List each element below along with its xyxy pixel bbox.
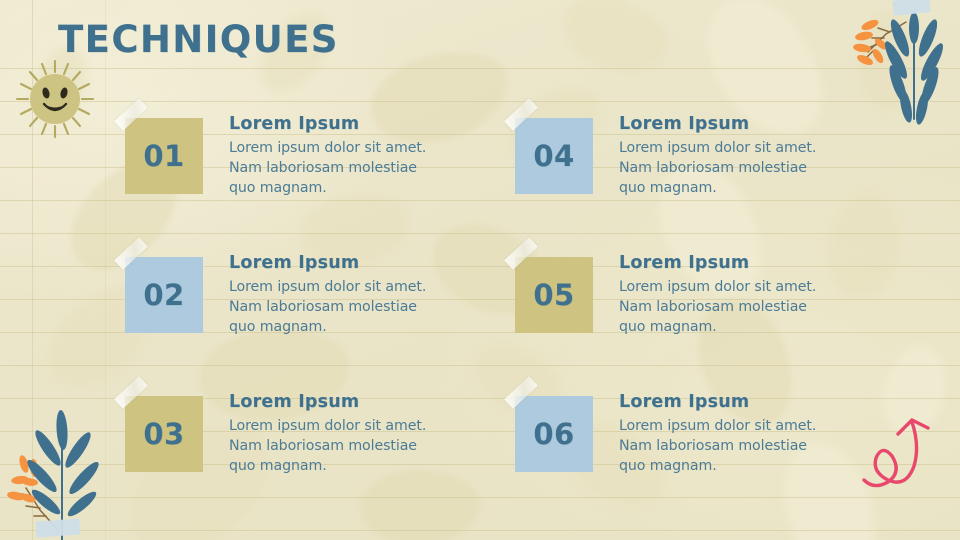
slide-canvas: TECHNIQUES xyxy=(0,0,960,540)
tile-number: 06 xyxy=(533,420,574,449)
technique-heading: Lorem Ipsum xyxy=(229,392,437,413)
number-tile[interactable]: 04 xyxy=(515,112,593,194)
technique-description: Lorem ipsum dolor sit amet. Nam laborios… xyxy=(229,277,437,337)
technique-description: Lorem ipsum dolor sit amet. Nam laborios… xyxy=(229,138,437,198)
number-tile[interactable]: 06 xyxy=(515,390,593,472)
number-tile[interactable]: 05 xyxy=(515,251,593,333)
technique-text-block: Lorem IpsumLorem ipsum dolor sit amet. N… xyxy=(619,251,827,337)
technique-text-block: Lorem IpsumLorem ipsum dolor sit amet. N… xyxy=(619,112,827,198)
technique-heading: Lorem Ipsum xyxy=(229,114,437,135)
technique-card-grid: 01Lorem IpsumLorem ipsum dolor sit amet.… xyxy=(0,0,960,540)
number-tile[interactable]: 02 xyxy=(125,251,203,333)
technique-item[interactable]: 05Lorem IpsumLorem ipsum dolor sit amet.… xyxy=(515,251,827,337)
technique-item[interactable]: 04Lorem IpsumLorem ipsum dolor sit amet.… xyxy=(515,112,827,198)
tile-number: 04 xyxy=(533,142,574,171)
tile-number: 05 xyxy=(533,281,574,310)
tile-number: 02 xyxy=(143,281,184,310)
technique-heading: Lorem Ipsum xyxy=(619,114,827,135)
technique-description: Lorem ipsum dolor sit amet. Nam laborios… xyxy=(619,138,827,198)
tile-number: 01 xyxy=(143,142,184,171)
technique-text-block: Lorem IpsumLorem ipsum dolor sit amet. N… xyxy=(229,112,437,198)
number-tile[interactable]: 03 xyxy=(125,390,203,472)
technique-item[interactable]: 03Lorem IpsumLorem ipsum dolor sit amet.… xyxy=(125,390,437,476)
technique-description: Lorem ipsum dolor sit amet. Nam laborios… xyxy=(229,416,437,476)
technique-heading: Lorem Ipsum xyxy=(229,253,437,274)
technique-heading: Lorem Ipsum xyxy=(619,253,827,274)
technique-text-block: Lorem IpsumLorem ipsum dolor sit amet. N… xyxy=(229,390,437,476)
number-tile[interactable]: 01 xyxy=(125,112,203,194)
technique-heading: Lorem Ipsum xyxy=(619,392,827,413)
technique-description: Lorem ipsum dolor sit amet. Nam laborios… xyxy=(619,416,827,476)
technique-description: Lorem ipsum dolor sit amet. Nam laborios… xyxy=(619,277,827,337)
technique-item[interactable]: 01Lorem IpsumLorem ipsum dolor sit amet.… xyxy=(125,112,437,198)
technique-item[interactable]: 06Lorem IpsumLorem ipsum dolor sit amet.… xyxy=(515,390,827,476)
technique-text-block: Lorem IpsumLorem ipsum dolor sit amet. N… xyxy=(229,251,437,337)
technique-item[interactable]: 02Lorem IpsumLorem ipsum dolor sit amet.… xyxy=(125,251,437,337)
tile-number: 03 xyxy=(143,420,184,449)
technique-text-block: Lorem IpsumLorem ipsum dolor sit amet. N… xyxy=(619,390,827,476)
